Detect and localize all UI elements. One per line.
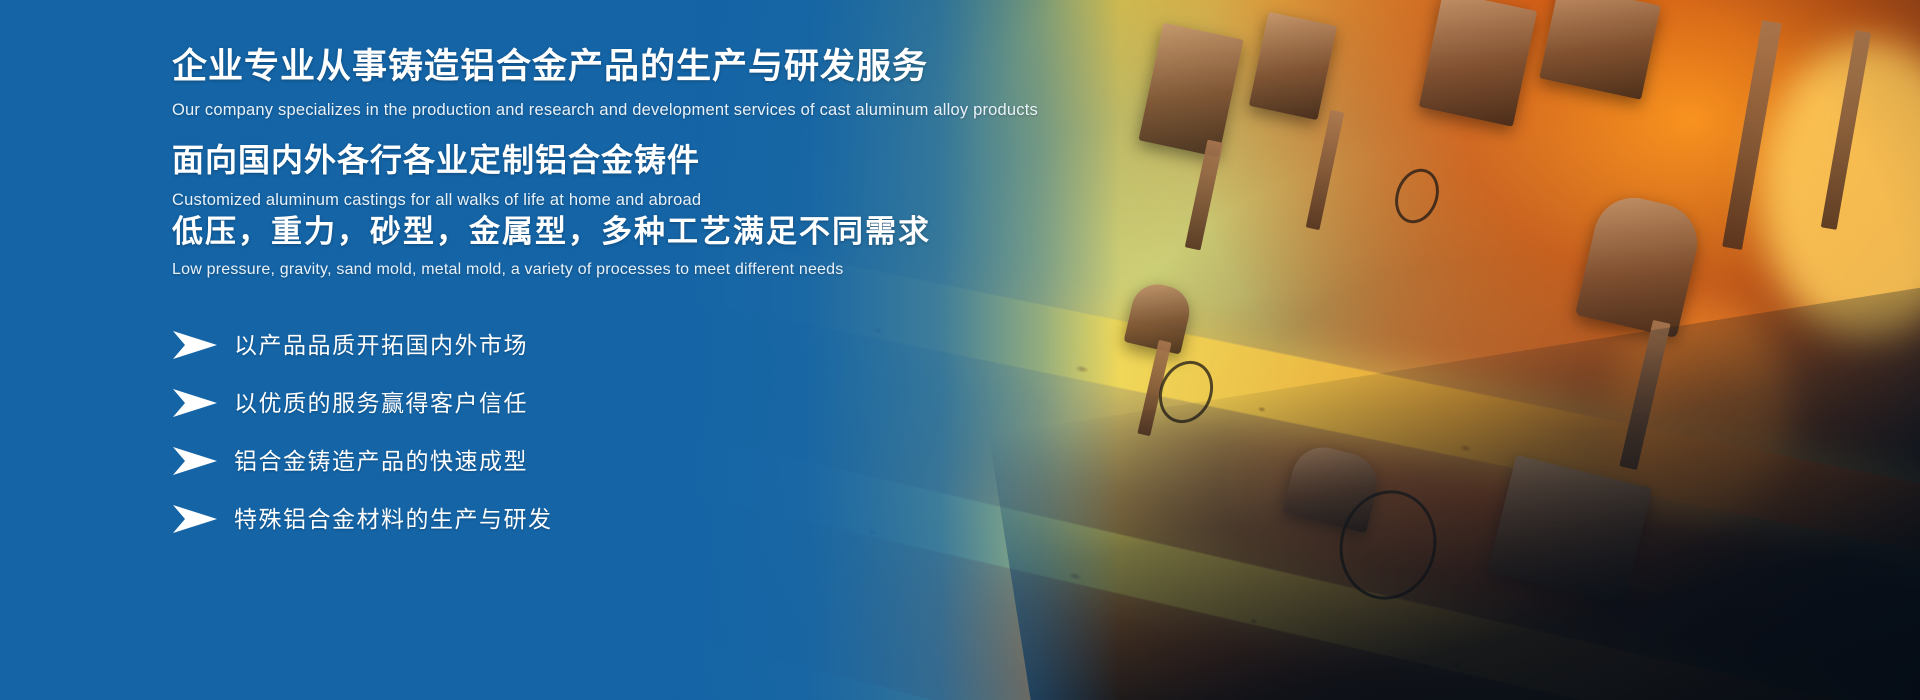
bullet-item[interactable]: 铝合金铸造产品的快速成型 bbox=[172, 432, 792, 490]
headline-block-3: 低压，重力，砂型，金属型，多种工艺满足不同需求 Low pressure, gr… bbox=[172, 215, 931, 280]
banner-content: 企业专业从事铸造铝合金产品的生产与研发服务 Our company specia… bbox=[172, 0, 1172, 700]
headline-3-cn: 低压，重力，砂型，金属型，多种工艺满足不同需求 bbox=[172, 215, 931, 249]
headline-2-cn: 面向国内外各行各业定制铝合金铸件 bbox=[172, 143, 701, 178]
headline-2-en: Customized aluminum castings for all wal… bbox=[172, 190, 701, 211]
headline-1-en: Our company specializes in the productio… bbox=[172, 100, 1038, 121]
headline-1-cn: 企业专业从事铸造铝合金产品的生产与研发服务 bbox=[172, 48, 1038, 87]
bullet-label: 铝合金铸造产品的快速成型 bbox=[234, 450, 528, 473]
arrow-right-icon bbox=[172, 446, 218, 476]
hero-banner: 企业专业从事铸造铝合金产品的生产与研发服务 Our company specia… bbox=[0, 0, 1920, 700]
arrow-right-icon bbox=[172, 388, 218, 418]
headline-block-2: 面向国内外各行各业定制铝合金铸件 Customized aluminum cas… bbox=[172, 143, 701, 211]
bullet-label: 以产品品质开拓国内外市场 bbox=[234, 334, 528, 357]
bullet-item[interactable]: 以产品品质开拓国内外市场 bbox=[172, 316, 792, 374]
feature-bullet-list: 以产品品质开拓国内外市场 以优质的服务赢得客户信任 铝合金铸造产品的快速成型 特… bbox=[172, 316, 792, 548]
bullet-label: 特殊铝合金材料的生产与研发 bbox=[234, 508, 553, 531]
bullet-label: 以优质的服务赢得客户信任 bbox=[234, 392, 528, 415]
bullet-item[interactable]: 以优质的服务赢得客户信任 bbox=[172, 374, 792, 432]
arrow-right-icon bbox=[172, 504, 218, 534]
headline-3-en: Low pressure, gravity, sand mold, metal … bbox=[172, 260, 931, 280]
arrow-right-icon bbox=[172, 330, 218, 360]
bullet-item[interactable]: 特殊铝合金材料的生产与研发 bbox=[172, 490, 792, 548]
headline-block-1: 企业专业从事铸造铝合金产品的生产与研发服务 Our company specia… bbox=[172, 48, 1038, 120]
